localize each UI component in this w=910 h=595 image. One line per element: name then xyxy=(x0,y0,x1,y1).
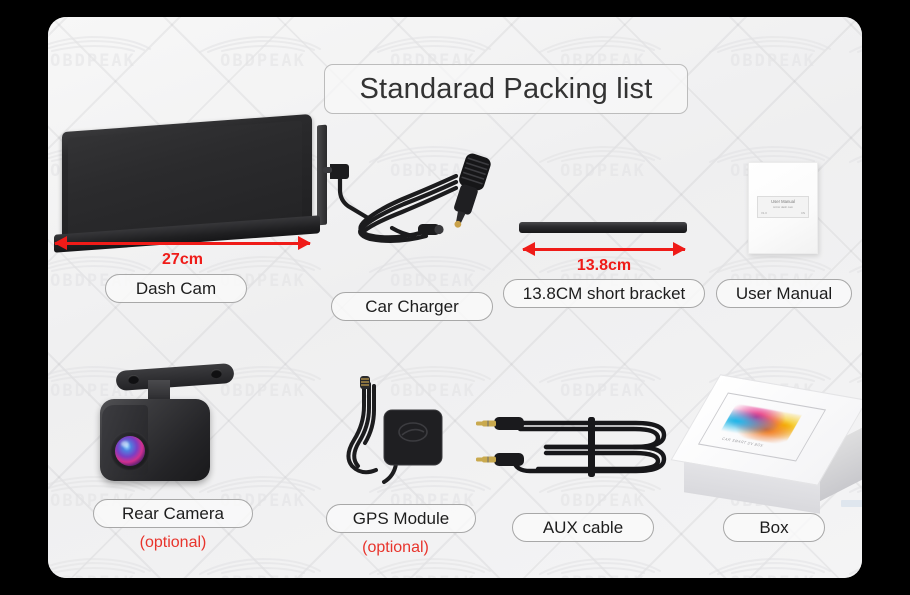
car-silhouette-icon xyxy=(846,557,862,577)
watermark-text: OBDPEAK xyxy=(358,573,508,578)
watermark: OBDPEAK xyxy=(188,35,338,81)
watermark: OBDPEAK xyxy=(528,145,678,191)
page-title-text: Standarad Packing list xyxy=(360,73,653,106)
watermark-text: OBDPEAK xyxy=(48,51,168,71)
watermark-text: OBDPEAK xyxy=(838,573,862,578)
car-charger-label: Car Charger xyxy=(331,292,493,321)
product-car-charger: Car Charger xyxy=(306,142,516,332)
aux-cable-label: AUX cable xyxy=(512,513,654,542)
product-short-bracket: 13.8cm 13.8CM short bracket xyxy=(503,222,723,332)
dash-cam-dimension-label: 27cm xyxy=(55,251,310,269)
watermark: OBDPEAK xyxy=(48,557,168,578)
watermark-text: OBDPEAK xyxy=(188,51,338,71)
short-bracket-icon xyxy=(519,222,689,236)
product-user-manual: User Manual mirror dash cam V1.0 CN User… xyxy=(698,162,862,332)
car-silhouette-icon xyxy=(196,35,324,55)
watermark-text: OBDPEAK xyxy=(698,51,848,71)
car-silhouette-icon xyxy=(536,557,664,577)
product-box: CAR SMART DV BOX Box xyxy=(668,387,862,542)
car-silhouette-icon xyxy=(196,557,324,577)
user-manual-label: User Manual xyxy=(716,279,852,308)
car-silhouette-icon xyxy=(366,35,494,55)
watermark: OBDPEAK xyxy=(838,557,862,578)
gps-module-label: GPS Module xyxy=(326,504,476,533)
rear-camera-icon xyxy=(86,367,251,487)
box-logo-icon xyxy=(841,500,862,507)
rear-camera-label: Rear Camera xyxy=(93,499,253,528)
user-manual-icon: User Manual mirror dash cam V1.0 CN xyxy=(748,162,818,254)
short-bracket-label: 13.8CM short bracket xyxy=(503,279,705,308)
gps-module-icon xyxy=(316,372,466,492)
watermark-text: OBDPEAK xyxy=(48,573,168,578)
dash-cam-icon xyxy=(48,117,333,252)
dash-cam-label: Dash Cam xyxy=(105,274,247,303)
page-title: Standarad Packing list xyxy=(324,64,688,114)
watermark-text: OBDPEAK xyxy=(528,573,678,578)
car-silhouette-icon xyxy=(536,35,664,55)
car-charger-icon xyxy=(306,142,516,262)
product-dash-cam: 27cm Dash Cam xyxy=(48,117,333,327)
watermark: OBDPEAK xyxy=(528,557,678,578)
car-silhouette-icon xyxy=(846,35,862,55)
watermark: OBDPEAK xyxy=(838,35,862,81)
watermark: OBDPEAK xyxy=(698,557,848,578)
car-silhouette-icon xyxy=(846,365,862,385)
car-silhouette-icon xyxy=(706,35,834,55)
dash-cam-dimension: 27cm xyxy=(55,236,310,268)
car-silhouette-icon xyxy=(706,557,834,577)
image-frame: OBDPEAKOBDPEAKOBDPEAKOBDPEAKOBDPEAKOBDPE… xyxy=(0,0,910,595)
watermark-text: OBDPEAK xyxy=(698,573,848,578)
car-silhouette-icon xyxy=(366,557,494,577)
car-silhouette-icon xyxy=(48,35,154,55)
car-silhouette-icon xyxy=(536,365,664,385)
watermark: OBDPEAK xyxy=(358,557,508,578)
car-silhouette-icon xyxy=(536,145,664,165)
packing-list-canvas: OBDPEAKOBDPEAKOBDPEAKOBDPEAKOBDPEAKOBDPE… xyxy=(48,17,862,578)
watermark-text: OBDPEAK xyxy=(838,51,862,71)
product-rear-camera: Rear Camera (optional) xyxy=(58,367,288,552)
aux-cable-icon xyxy=(468,397,683,497)
watermark: OBDPEAK xyxy=(188,557,338,578)
watermark: OBDPEAK xyxy=(698,35,848,81)
watermark-text: OBDPEAK xyxy=(188,573,338,578)
car-silhouette-icon xyxy=(48,557,154,577)
watermark-text: OBDPEAK xyxy=(528,161,678,181)
watermark: OBDPEAK xyxy=(48,35,168,81)
rear-camera-optional-note: (optional) xyxy=(58,534,288,552)
manual-cover-label: User Manual mirror dash cam V1.0 CN xyxy=(757,196,809,218)
short-bracket-dimension-label: 13.8cm xyxy=(523,257,685,275)
box-label: Box xyxy=(723,513,825,542)
retail-box-icon: CAR SMART DV BOX xyxy=(678,387,862,512)
short-bracket-dimension: 13.8cm xyxy=(523,242,685,274)
